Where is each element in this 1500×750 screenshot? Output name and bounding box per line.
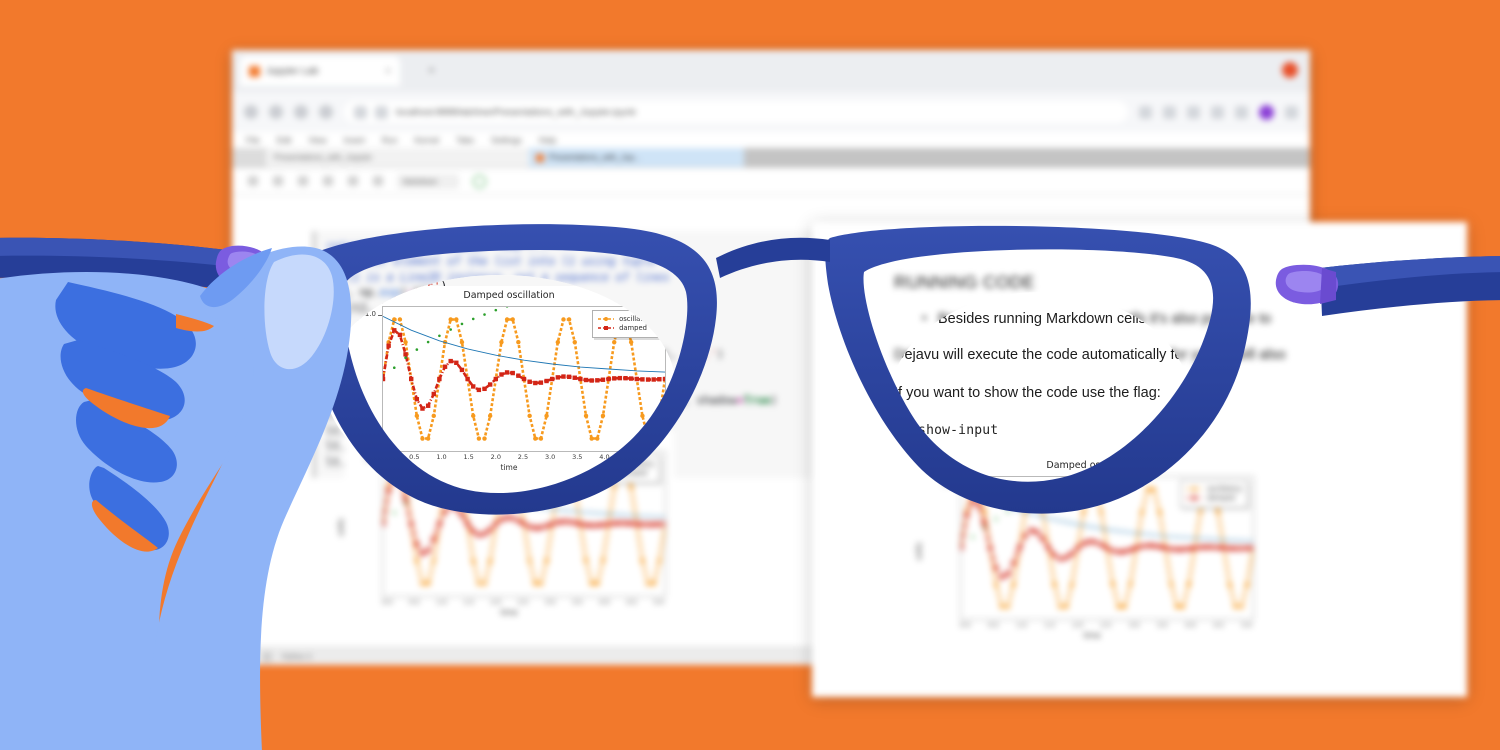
hand-illustration [0,0,1500,750]
screenshot-stage: Jupyter Lab × + localhost:8888/lab/tree/… [0,0,1500,750]
